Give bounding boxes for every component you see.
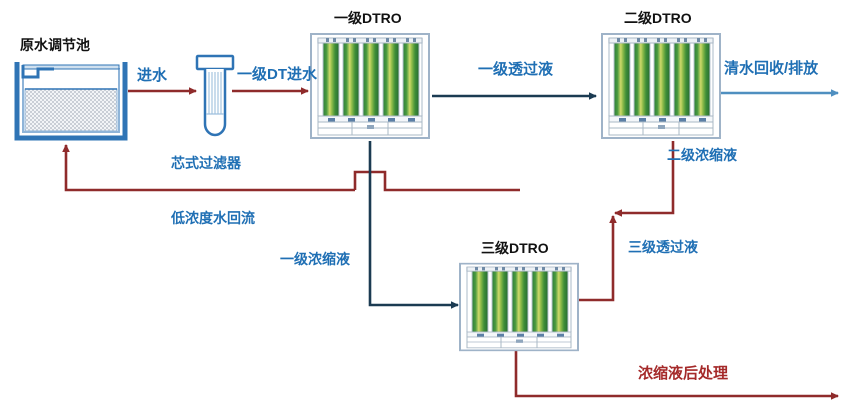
flow-label-clean-water: 清水回收/排放 <box>724 61 818 76</box>
flow-label-feed: 进水 <box>137 68 167 83</box>
dtro-unit-3[interactable] <box>458 262 580 352</box>
flow-label-post-treat: 浓缩液后处理 <box>638 366 728 381</box>
filter-label: 芯式过滤器 <box>171 156 241 170</box>
dtro1-title: 一级DTRO <box>334 11 402 25</box>
raw-water-tank[interactable] <box>14 59 128 141</box>
flow-label-concentrate1: 一级浓缩液 <box>280 252 350 266</box>
pipe-concentrate2 <box>615 141 673 213</box>
filter-graphic <box>193 54 237 140</box>
process-flow-diagram: 原水调节池 芯式过滤器 一级DTRO <box>0 0 845 412</box>
pipe-concentrate1 <box>370 141 458 305</box>
dtro1-graphic <box>309 32 431 140</box>
dtro3-title: 三级DTRO <box>481 241 549 255</box>
flow-label-permeate1: 一级透过液 <box>478 62 553 77</box>
dtro-unit-1[interactable] <box>309 32 431 140</box>
flow-label-low-conc-return: 低浓度水回流 <box>171 211 255 225</box>
pipe-crossover-bridge <box>355 172 520 190</box>
dtro3-graphic <box>458 262 580 352</box>
flow-label-concentrate2: 二级浓缩液 <box>667 148 737 162</box>
flow-label-permeate3: 三级透过液 <box>628 240 698 254</box>
dtro2-graphic <box>600 32 722 140</box>
flow-label-dt1-feed: 一级DT进水 <box>237 67 317 82</box>
dtro2-title: 二级DTRO <box>624 11 692 25</box>
dtro-unit-2[interactable] <box>600 32 722 140</box>
cartridge-filter[interactable] <box>193 54 237 140</box>
tank-graphic <box>14 59 128 141</box>
tank-label: 原水调节池 <box>20 38 90 52</box>
